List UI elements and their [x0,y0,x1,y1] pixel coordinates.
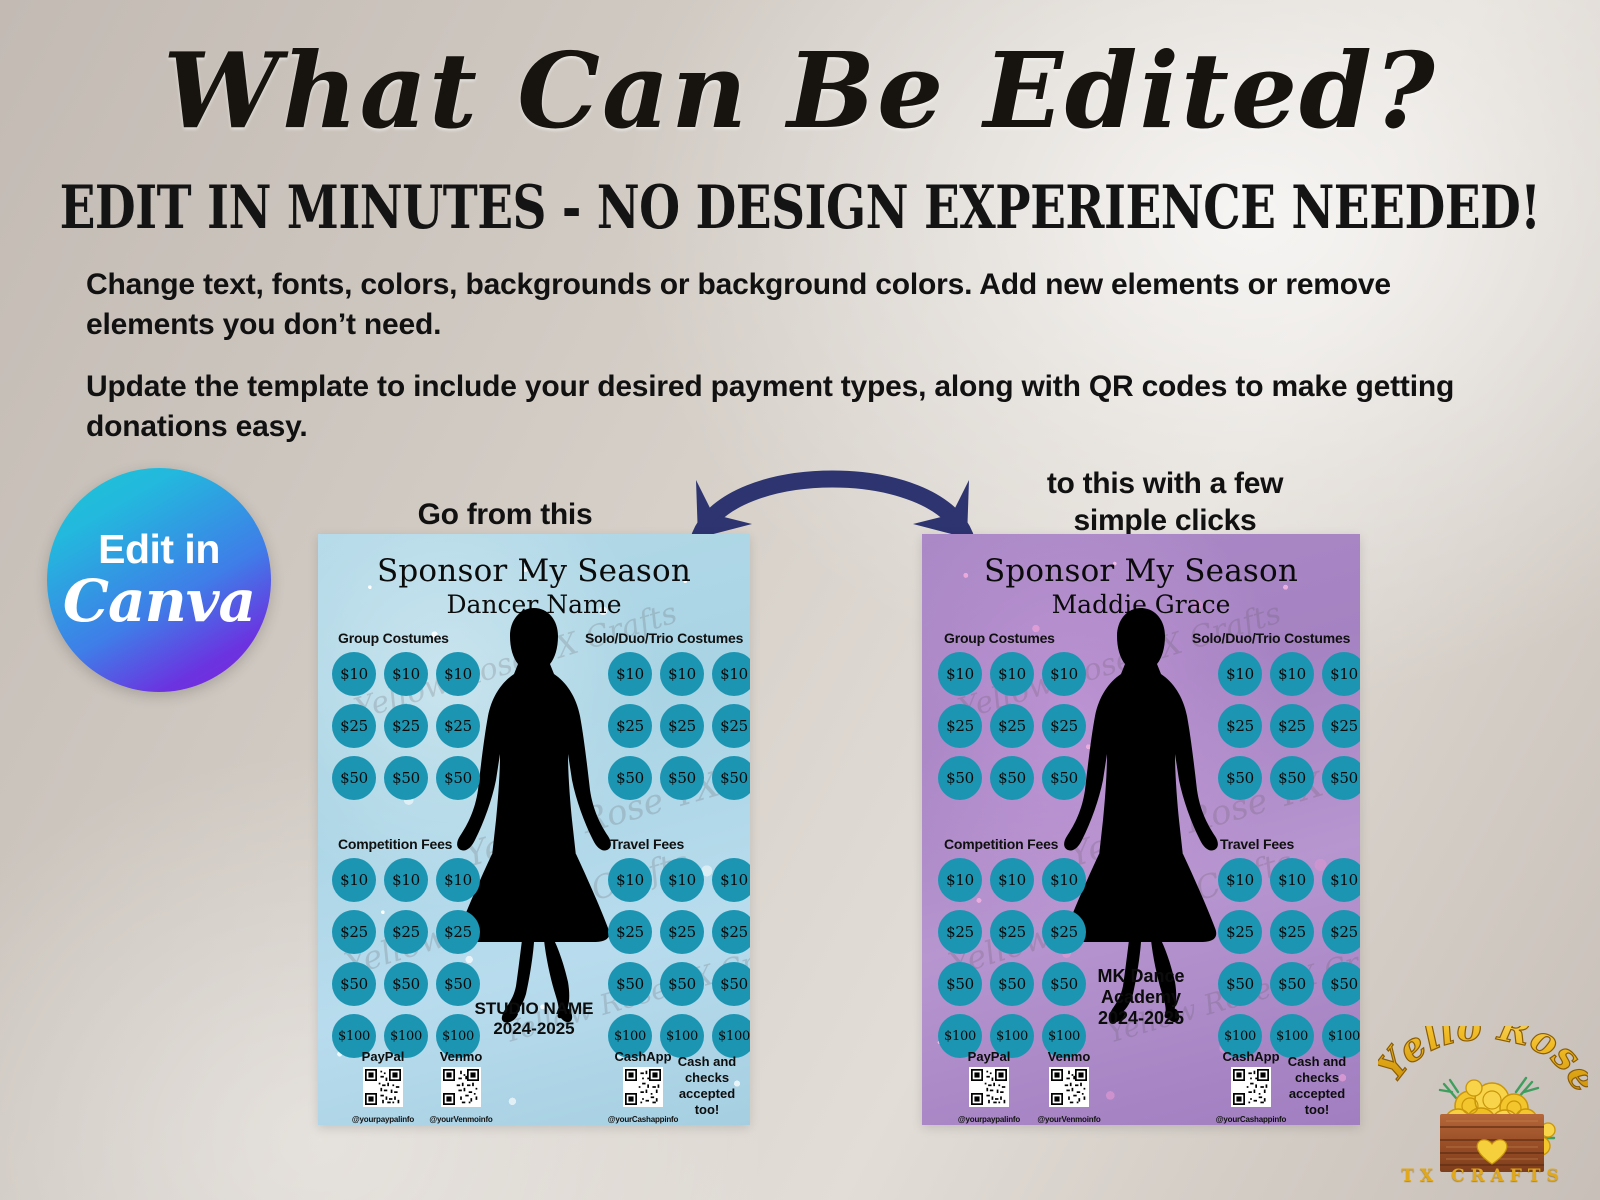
sponsor-coin[interactable]: $10 [938,652,982,696]
sponsor-coin[interactable]: $25 [990,910,1034,954]
payment-paypal[interactable]: PayPal @yourpaypalinfo [950,1050,1028,1124]
caption-before: Go from this [330,497,680,534]
sponsor-coin[interactable]: $25 [436,910,480,954]
sponsor-coin[interactable]: $25 [938,704,982,748]
sponsor-coin[interactable]: $25 [1322,704,1360,748]
payment-handle: @yourCashappinfo [1212,1115,1290,1124]
sponsor-coin[interactable]: $25 [660,910,704,954]
sponsor-coin[interactable]: $50 [384,756,428,800]
sponsor-coin[interactable]: $10 [1218,652,1262,696]
sponsor-coin[interactable]: $25 [1322,910,1360,954]
payment-label: Venmo [1030,1050,1108,1063]
poster-title: Sponsor My Season [922,556,1360,587]
payment-label: CashApp [1212,1050,1290,1063]
qr-code-icon[interactable] [1231,1067,1271,1107]
sponsor-coin[interactable]: $50 [384,962,428,1006]
sponsor-coin[interactable]: $10 [436,652,480,696]
sponsor-coin[interactable]: $10 [1042,858,1086,902]
sponsor-coin[interactable]: $10 [1042,652,1086,696]
section-label-group-costumes: Group Costumes [338,630,449,646]
sponsor-coin[interactable]: $25 [990,704,1034,748]
coin-grid-group-costumes[interactable]: $10$10$10$25$25$25$50$50$50 [332,652,480,800]
payment-label: PayPal [950,1050,1028,1063]
sponsor-coin[interactable]: $10 [712,858,750,902]
caption-after: to this with a few simple clicks [1000,466,1330,539]
sponsor-coin[interactable]: $10 [384,652,428,696]
poster-after[interactable]: Yellow Rose TX Crafts Yellow Rose TX Cra… [922,534,1360,1125]
sponsor-coin[interactable]: $10 [990,858,1034,902]
sponsor-coin[interactable]: $50 [938,962,982,1006]
payment-venmo[interactable]: Venmo @yourVenmoinfo [422,1050,500,1124]
coin-grid-solo-duo-trio[interactable]: $10$10$10$25$25$25$50$50$50 [1218,652,1360,800]
sponsor-coin[interactable]: $50 [990,756,1034,800]
payment-paypal[interactable]: PayPal @yourpaypalinfo [344,1050,422,1124]
qr-code-icon[interactable] [441,1067,481,1107]
sponsor-coin[interactable]: $10 [1270,652,1314,696]
sponsor-coin[interactable]: $10 [1270,858,1314,902]
sponsor-coin[interactable]: $50 [1270,756,1314,800]
brand-logo: Yellow Rose [1378,1026,1588,1194]
payment-cashapp[interactable]: CashApp @yourCashappinfo [1212,1050,1290,1124]
page-subtitle: EDIT IN MINUTES - NO DESIGN EXPERIENCE N… [0,178,1600,238]
sponsor-coin[interactable]: $25 [660,704,704,748]
sponsor-coin[interactable]: $10 [332,652,376,696]
sponsor-coin[interactable]: $10 [608,858,652,902]
page-title: What Can Be Edited? [0,36,1600,145]
section-label-group-costumes: Group Costumes [944,630,1055,646]
sponsor-coin[interactable]: $10 [608,652,652,696]
sponsor-coin[interactable]: $25 [1270,910,1314,954]
qr-code-icon[interactable] [1049,1067,1089,1107]
description-paragraph-1: Change text, fonts, colors, backgrounds … [86,265,1496,345]
studio-name: MK Dance Academy 2024-2025 [1051,966,1231,1030]
sponsor-coin[interactable]: $10 [1322,652,1360,696]
sponsor-coin[interactable]: $50 [712,756,750,800]
sponsor-coin[interactable]: $25 [712,704,750,748]
sponsor-coin[interactable]: $25 [332,910,376,954]
sponsor-coin[interactable]: $25 [1042,910,1086,954]
qr-code-icon[interactable] [363,1067,403,1107]
logo-tagline: TX CRAFTS [1378,1166,1588,1186]
sponsor-coin[interactable]: $10 [660,858,704,902]
section-label-competition-fees: Competition Fees [338,836,452,852]
sponsor-coin[interactable]: $10 [436,858,480,902]
poster-before[interactable]: Yellow Rose TX Crafts Yellow Rose TX Cra… [318,534,750,1125]
sponsor-coin[interactable]: $50 [660,962,704,1006]
payment-venmo[interactable]: Venmo @yourVenmoinfo [1030,1050,1108,1124]
sponsor-coin[interactable]: $50 [1218,756,1262,800]
edit-in-canva-badge[interactable]: Edit in Canva [47,468,271,692]
cash-note: Cash and checks accepted too! [670,1054,744,1117]
sponsor-coin[interactable]: $50 [712,962,750,1006]
sponsor-coin[interactable]: $10 [938,858,982,902]
section-label-travel-fees: Travel Fees [610,836,684,852]
payment-handle: @yourpaypalinfo [344,1115,422,1124]
sponsor-coin[interactable]: $10 [1218,858,1262,902]
svg-text:Rose: Rose [1493,1026,1588,1099]
sponsor-coin[interactable]: $25 [384,910,428,954]
sponsor-coin[interactable]: $50 [1322,756,1360,800]
sponsor-coin[interactable]: $25 [1042,704,1086,748]
payment-handle: @yourVenmoinfo [1030,1115,1108,1124]
sponsor-coin[interactable]: $10 [660,652,704,696]
sponsor-coin[interactable]: $25 [938,910,982,954]
sponsor-coin[interactable]: $10 [1322,858,1360,902]
sponsor-coin[interactable]: $25 [608,910,652,954]
studio-name: STUDIO NAME 2024-2025 [434,999,634,1039]
sponsor-coin[interactable]: $50 [938,756,982,800]
canva-badge-line1: Edit in [98,529,220,570]
sponsor-coin[interactable]: $25 [1270,704,1314,748]
sponsor-coin[interactable]: $25 [332,704,376,748]
sponsor-coin[interactable]: $25 [384,704,428,748]
sponsor-coin[interactable]: $50 [436,756,480,800]
coin-grid-travel-fees[interactable]: $10$10$10$25$25$25$50$50$50$100$100$100 [1218,858,1360,1058]
sponsor-coin[interactable]: $50 [1322,962,1360,1006]
section-label-solo-duo-trio: Solo/Duo/Trio Costumes [585,630,743,646]
sponsor-coin[interactable]: $100 [712,1014,750,1058]
poster-title: Sponsor My Season [318,556,750,587]
sponsor-coin[interactable]: $50 [1270,962,1314,1006]
sponsor-coin[interactable]: $100 [1322,1014,1360,1058]
section-label-solo-duo-trio: Solo/Duo/Trio Costumes [1192,630,1350,646]
sponsor-coin[interactable]: $50 [608,756,652,800]
coin-grid-solo-duo-trio[interactable]: $10$10$10$25$25$25$50$50$50 [608,652,750,800]
svg-text:Yellow: Yellow [1378,1026,1483,1089]
section-label-travel-fees: Travel Fees [1220,836,1294,852]
description-paragraph-2: Update the template to include your desi… [86,367,1496,447]
sponsor-coin[interactable]: $50 [1042,756,1086,800]
section-label-competition-fees: Competition Fees [944,836,1058,852]
payment-handle: @yourVenmoinfo [422,1115,500,1124]
sponsor-coin[interactable]: $10 [332,858,376,902]
canva-badge-line2: Canva [63,572,255,631]
payment-handle: @yourpaypalinfo [950,1115,1028,1124]
sponsor-coin[interactable]: $25 [1218,910,1262,954]
sponsor-coin[interactable]: $50 [990,962,1034,1006]
payment-label: Venmo [422,1050,500,1063]
qr-code-icon[interactable] [623,1067,663,1107]
qr-code-icon[interactable] [969,1067,1009,1107]
payment-label: PayPal [344,1050,422,1063]
sponsor-coin[interactable]: $10 [384,858,428,902]
sponsor-coin[interactable]: $25 [436,704,480,748]
sponsor-coin[interactable]: $50 [660,756,704,800]
sponsor-coin[interactable]: $50 [332,962,376,1006]
sponsor-coin[interactable]: $10 [990,652,1034,696]
sponsor-coin[interactable]: $25 [1218,704,1262,748]
coin-grid-group-costumes[interactable]: $10$10$10$25$25$25$50$50$50 [938,652,1086,800]
sponsor-coin[interactable]: $25 [608,704,652,748]
sponsor-coin[interactable]: $50 [332,756,376,800]
sponsor-coin[interactable]: $10 [712,652,750,696]
sponsor-coin[interactable]: $25 [712,910,750,954]
cash-note: Cash and checks accepted too! [1280,1054,1354,1117]
